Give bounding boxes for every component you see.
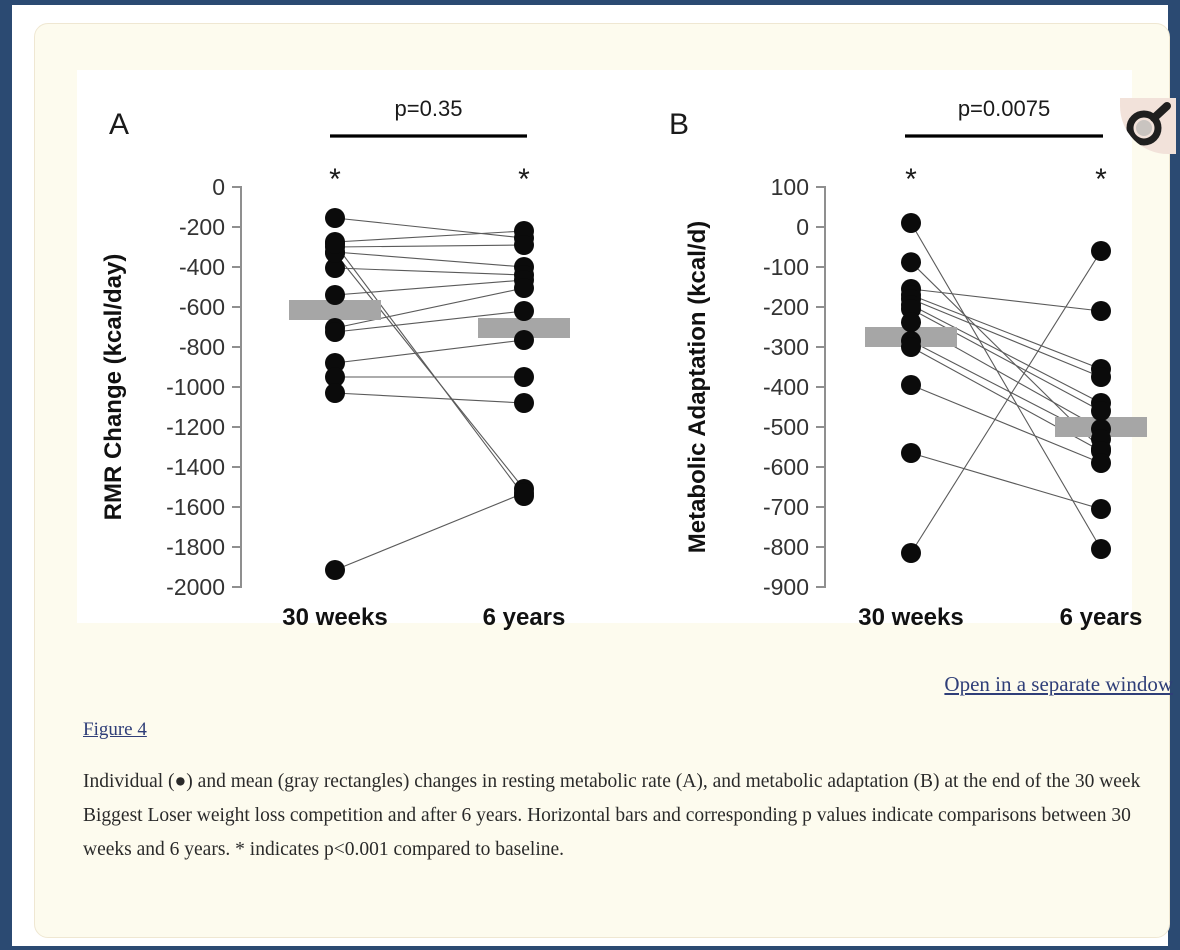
panel-a-y-tick-label: -2000 [166, 574, 225, 600]
panel-a-data-point [514, 278, 534, 298]
panel-a-connector [335, 252, 524, 267]
figure-svg: Ap=0.35**0-200-400-600-800-1000-1200-140… [35, 24, 1180, 644]
panel-b-y-axis-title: Metabolic Adaptation (kcal/d) [684, 221, 711, 553]
panel-b-data-point [901, 443, 921, 463]
panel-b-letter: B [669, 108, 689, 141]
panel-b-y-tick-label: -900 [763, 574, 809, 600]
panel-b-y-tick-label: -700 [763, 494, 809, 520]
panel-b-p-value: p=0.0075 [958, 96, 1050, 121]
panel-b-data-point [1091, 453, 1111, 473]
panel-a-connector [335, 340, 524, 363]
panel-a-data-point [325, 383, 345, 403]
screenshot-root: Ap=0.35**0-200-400-600-800-1000-1200-140… [0, 0, 1180, 950]
panel-a-connector [335, 245, 524, 247]
panel-b-connector [911, 305, 1101, 403]
page-sheet: Ap=0.35**0-200-400-600-800-1000-1200-140… [12, 5, 1168, 946]
figure-caption-text: Individual (●) and mean (gray rectangles… [83, 765, 1155, 867]
panel-a-y-tick-label: -1400 [166, 454, 225, 480]
panel-a-y-tick-label: -800 [179, 334, 225, 360]
panel-b-y-tick-label: -400 [763, 374, 809, 400]
panel-b-y-tick-label: 100 [771, 174, 809, 200]
panel-b-y-tick-label: 0 [796, 214, 809, 240]
panel-a-data-point [514, 330, 534, 350]
panel-b-data-point [901, 252, 921, 272]
panel-a-significance-marker: * [329, 163, 341, 196]
panel-a-y-tick-label: -400 [179, 254, 225, 280]
panel-b-data-point [901, 337, 921, 357]
panel-b-y-tick-label: -200 [763, 294, 809, 320]
panel-b-connector [911, 289, 1101, 311]
panel-b-significance-marker: * [1095, 163, 1107, 196]
figure-label[interactable]: Figure 4 [83, 719, 147, 741]
panel-b-data-point [1091, 539, 1111, 559]
panel-b-data-point [1091, 367, 1111, 387]
panel-a-p-value: p=0.35 [395, 96, 463, 121]
panel-b-data-point [1091, 301, 1111, 321]
panel-b-data-point [901, 543, 921, 563]
panel-b-significance-marker: * [905, 163, 917, 196]
open-in-separate-window-link[interactable]: Open in a separate window [944, 672, 1173, 697]
panel-a-data-point [325, 208, 345, 228]
panel-b-y-tick-label: -300 [763, 334, 809, 360]
panel-a-data-point [514, 235, 534, 255]
panel-a-data-point [325, 234, 345, 254]
panel-b-data-point [1091, 401, 1111, 421]
open-link-row: Open in a separate window [83, 672, 1173, 697]
panel-b-connector [911, 453, 1101, 509]
panel-b-y-tick-label: -100 [763, 254, 809, 280]
panel-b-connector [911, 309, 1101, 411]
panel-b-data-point [901, 213, 921, 233]
panel-a-connector [335, 231, 524, 242]
panel-a-category-label: 30 weeks [282, 604, 387, 631]
panel-a-connector [335, 268, 524, 275]
panel-a-y-tick-label: -600 [179, 294, 225, 320]
panel-a-connector [335, 253, 524, 489]
panel-b-y-tick-label: -500 [763, 414, 809, 440]
panel-b-data-point [1091, 499, 1111, 519]
panel-a-connector [335, 493, 524, 570]
panel-b-data-point [901, 312, 921, 332]
panel-b-data-point [1091, 241, 1111, 261]
panel-a-data-point [514, 367, 534, 387]
panel-a-y-tick-label: -1200 [166, 414, 225, 440]
panel-b-y-tick-label: -600 [763, 454, 809, 480]
panel-a-data-point [325, 560, 345, 580]
panel-b-data-point [901, 375, 921, 395]
panel-a-connector [335, 218, 524, 238]
magnifier-icon[interactable] [1120, 98, 1176, 154]
panel-a-data-point [514, 483, 534, 503]
panel-a-y-tick-label: -200 [179, 214, 225, 240]
panel-a-data-point [325, 285, 345, 305]
panel-a-data-point [514, 301, 534, 321]
panel-a-y-tick-label: -1000 [166, 374, 225, 400]
panel-b-y-tick-label: -800 [763, 534, 809, 560]
panel-a-category-label: 6 years [483, 604, 566, 631]
panel-b-connector [911, 251, 1101, 553]
figure-label-row: Figure 4 [83, 697, 1173, 741]
panel-a-y-tick-label: -1600 [166, 494, 225, 520]
panel-a-connector [335, 393, 524, 403]
panel-b-category-label: 6 years [1060, 604, 1143, 631]
panel-a-data-point [325, 322, 345, 342]
panel-a-y-axis-title: RMR Change (kcal/day) [100, 254, 127, 521]
panel-a-y-tick-label: 0 [212, 174, 225, 200]
panel-b-category-label: 30 weeks [858, 604, 963, 631]
panel-a-data-point [514, 393, 534, 413]
panel-a-y-tick-label: -1800 [166, 534, 225, 560]
figure-card: Ap=0.35**0-200-400-600-800-1000-1200-140… [34, 23, 1170, 938]
panel-a-letter: A [109, 108, 129, 141]
caption-area: Open in a separate window Figure 4 Indiv… [83, 672, 1173, 867]
panel-a-significance-marker: * [518, 163, 530, 196]
